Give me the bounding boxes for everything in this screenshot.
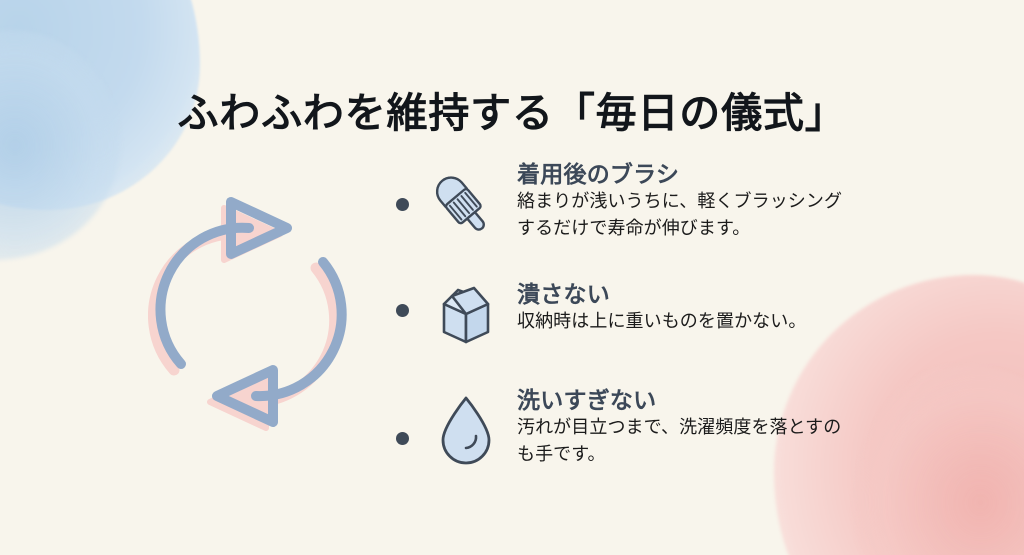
list-item: 潰さない 収納時は上に重いものを置かない。 (396, 266, 956, 358)
bullet-icon (396, 304, 409, 317)
list-item: 着用後のブラシ 絡まりが浅いうちに、軽くブラッシングするだけで寿命が伸びます。 (396, 154, 956, 246)
item-heading: 洗いすぎない (517, 387, 656, 413)
infographic-canvas: ふわふわを維持する「毎日の儀式」 (0, 0, 1024, 555)
item-text-block: 洗いすぎない 汚れが目立つまで、洗濯頻度を落とすのも手です。 (517, 384, 956, 469)
bullet-icon (396, 432, 409, 445)
item-body: 収納時は上に重いものを置かない。 (517, 308, 877, 335)
item-body: 絡まりが浅いうちに、軽くブラッシングするだけで寿命が伸びます。 (517, 188, 847, 243)
list-item: 洗いすぎない 汚れが目立つまで、洗濯頻度を落とすのも手です。 (396, 384, 956, 476)
item-text-block: 潰さない 収納時は上に重いものを置かない。 (517, 266, 956, 335)
refresh-cycle-icon (148, 178, 358, 448)
item-heading: 潰さない (517, 281, 610, 307)
water-drop-icon (423, 384, 509, 476)
item-heading: 着用後のブラシ (517, 161, 679, 187)
hairbrush-icon (423, 154, 509, 246)
item-text-block: 着用後のブラシ 絡まりが浅いうちに、軽くブラッシングするだけで寿命が伸びます。 (517, 154, 956, 243)
page-title: ふわふわを維持する「毎日の儀式」 (0, 79, 1024, 139)
bullet-icon (396, 198, 409, 211)
item-body: 汚れが目立つまで、洗濯頻度を落とすのも手です。 (517, 414, 847, 469)
ritual-list: 着用後のブラシ 絡まりが浅いうちに、軽くブラッシングするだけで寿命が伸びます。 … (396, 148, 956, 492)
open-box-icon (423, 266, 509, 358)
watercolor-blob-blue-secondary (0, 30, 120, 260)
